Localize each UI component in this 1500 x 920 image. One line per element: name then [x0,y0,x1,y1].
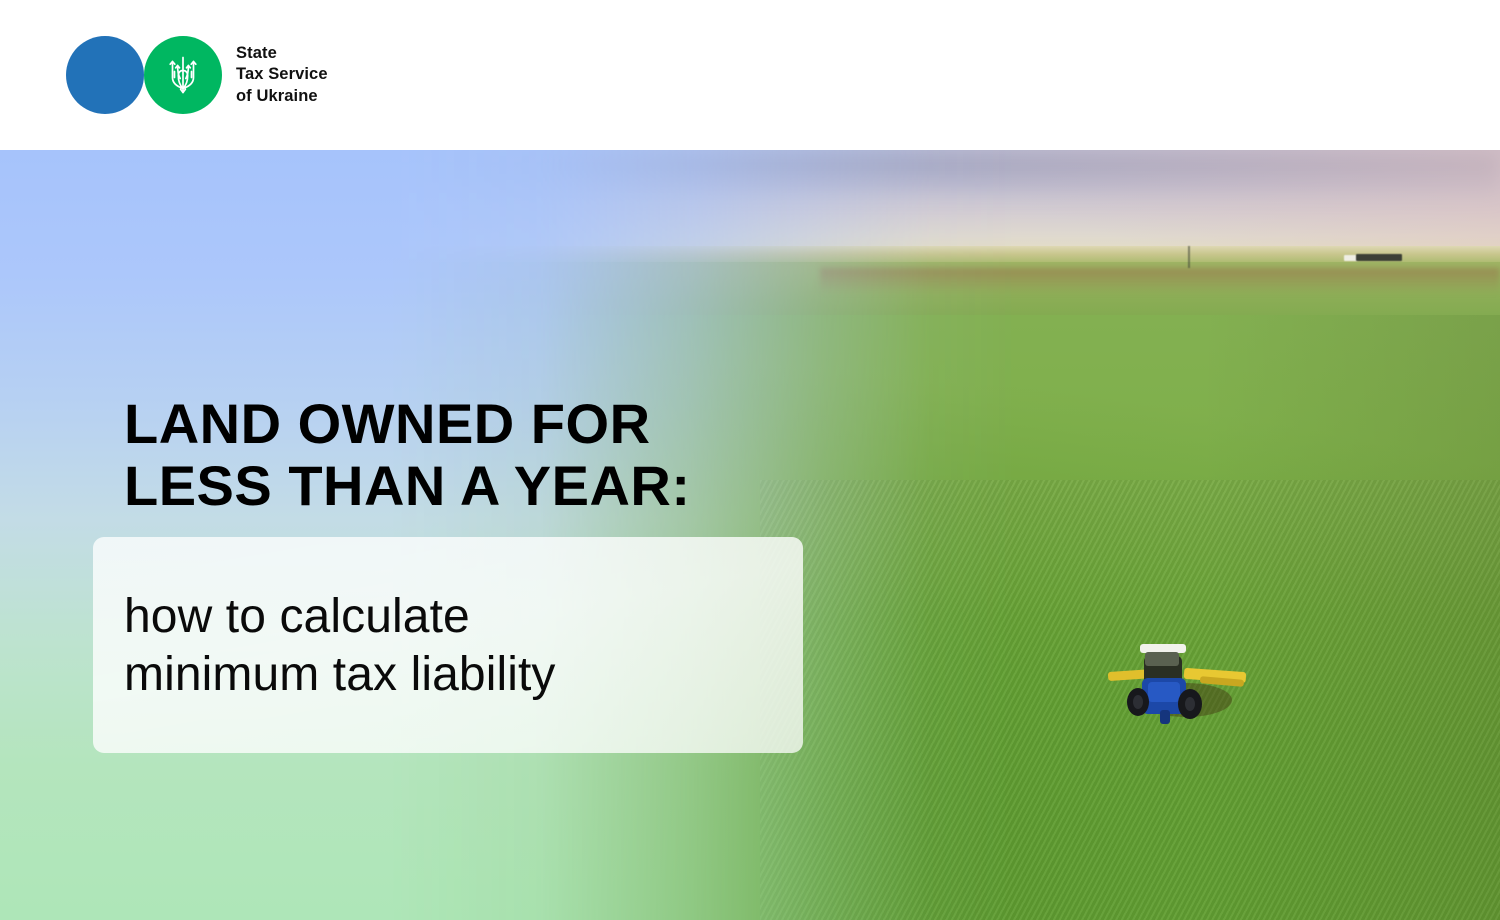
brand-logo[interactable]: State Tax Service of Ukraine [66,36,328,114]
ukraine-trident-icon [165,53,201,97]
blue-circle-icon [66,36,144,114]
organization-name: State Tax Service of Ukraine [236,43,328,108]
logo-circles [66,36,230,114]
poster-canvas: LAND OWNED FOR LESS THAN A YEAR: how to … [0,0,1500,920]
green-circle-icon [144,36,222,114]
page-title: LAND OWNED FOR LESS THAN A YEAR: [124,393,690,517]
page-subtitle: how to calculate minimum tax liability [124,588,556,704]
header-bar: State Tax Service of Ukraine [0,0,1500,150]
left-gradient-overlay [0,150,1500,920]
